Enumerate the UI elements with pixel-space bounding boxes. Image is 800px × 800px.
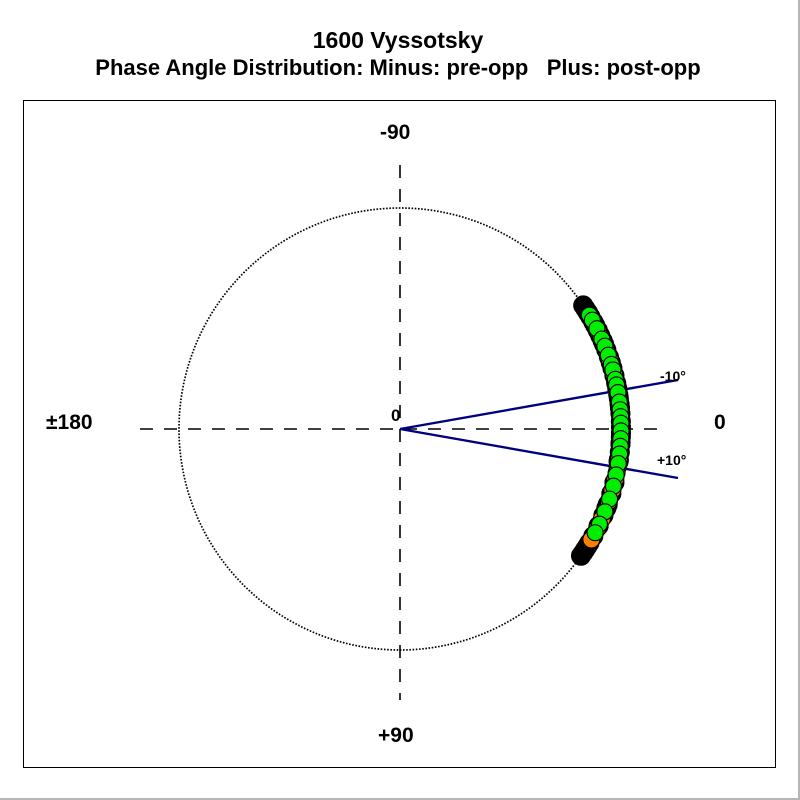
plot-frame <box>23 100 776 768</box>
guide-label-plus-10: +10° <box>657 452 686 468</box>
title-block: 1600 Vyssotsky Phase Angle Distribution:… <box>0 26 796 82</box>
page-title: 1600 Vyssotsky <box>0 26 796 54</box>
guide-label-minus-10: -10° <box>660 368 686 384</box>
axis-label-top: -90 <box>380 121 410 145</box>
axis-label-bottom: +90 <box>378 724 414 748</box>
chart-page: 1600 Vyssotsky Phase Angle Distribution:… <box>0 0 800 800</box>
axis-label-left: ±180 <box>46 411 93 435</box>
origin-label: 0 <box>391 406 400 426</box>
chart-subtitle: Phase Angle Distribution: Minus: pre-opp… <box>0 54 796 82</box>
axis-label-right: 0 <box>714 411 726 435</box>
